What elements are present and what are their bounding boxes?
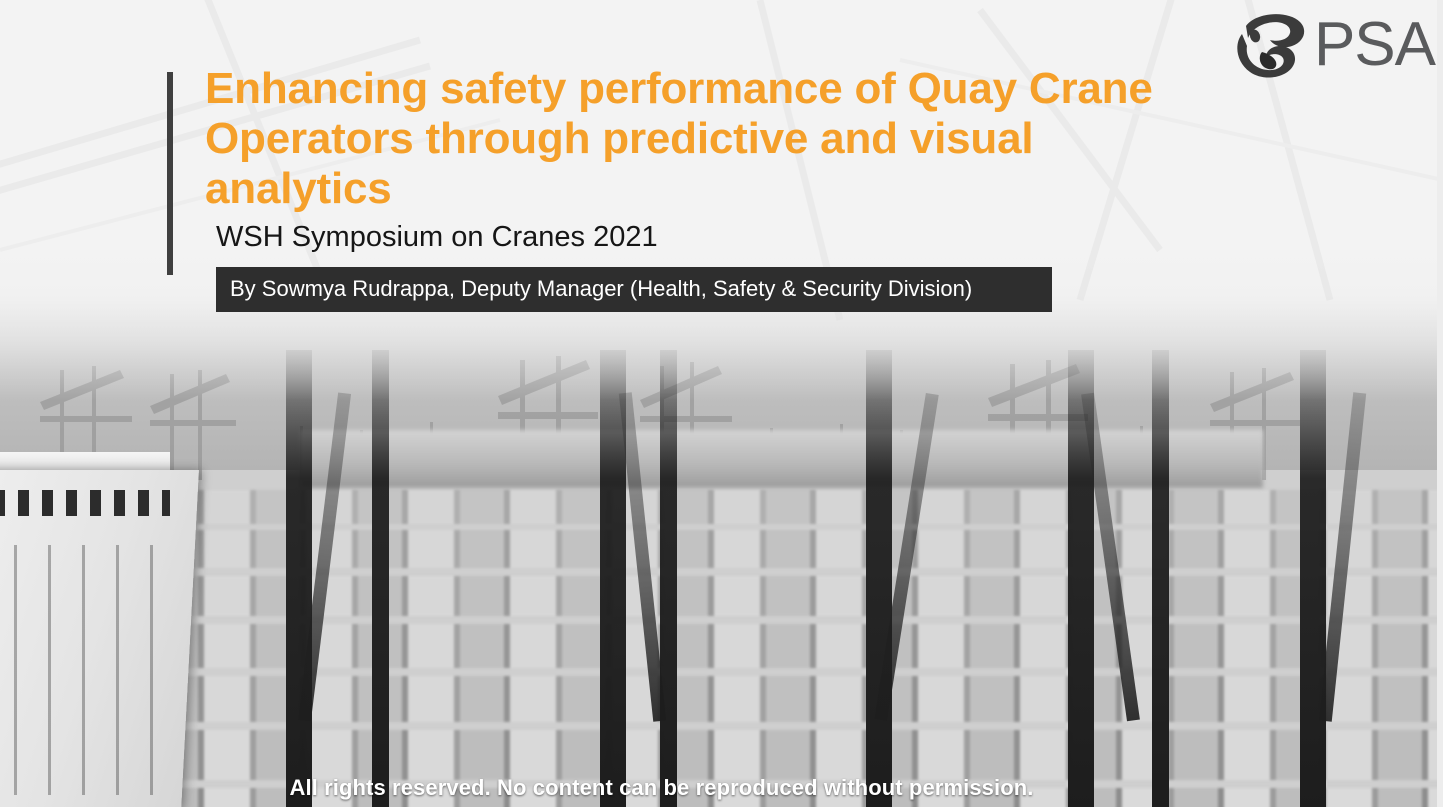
page-title: Enhancing safety performance of Quay Cra… <box>205 64 1225 214</box>
psa-logo: PSA <box>1226 8 1435 86</box>
copyright-footer: All rights reserved. No content can be r… <box>0 775 1443 801</box>
slide-right-edge <box>1437 0 1443 807</box>
psa-wordmark: PSA <box>1314 14 1435 80</box>
presentation-slide: PSA Enhancing safety performance of Quay… <box>0 0 1443 807</box>
title-accent-bar <box>167 72 173 275</box>
title-block: Enhancing safety performance of Quay Cra… <box>205 64 1225 312</box>
page-subtitle: WSH Symposium on Cranes 2021 <box>216 222 1225 254</box>
psa-swirl-mark-icon <box>1226 8 1312 86</box>
author-banner: By Sowmya Rudrappa, Deputy Manager (Heal… <box>216 267 1052 312</box>
